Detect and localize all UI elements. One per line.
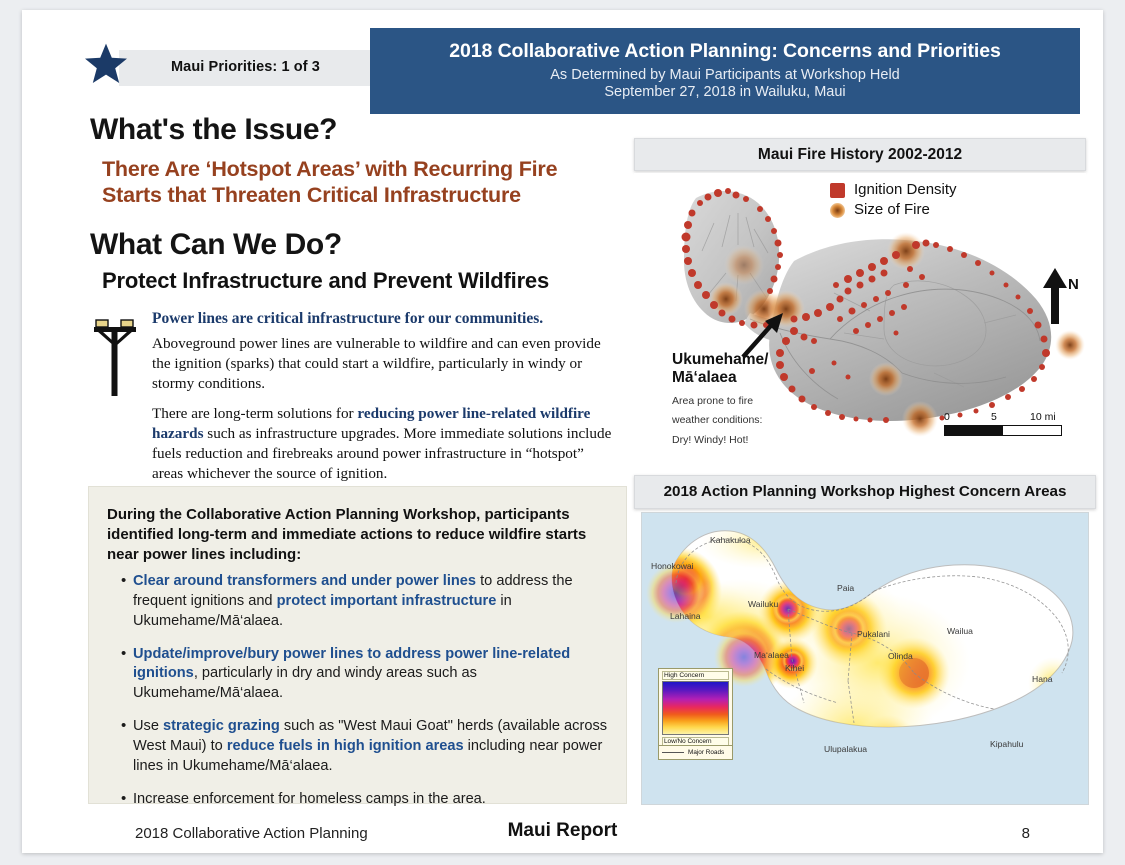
star-icon [82,40,130,88]
north-arrow: N [1042,268,1086,330]
map-place-label: Ulupalakua [824,744,867,754]
concern-legend: High Concern Low/No Concern [658,668,733,749]
bullet-3-text-1: Use [133,718,163,734]
banner-line-3: September 27, 2018 in Wailuku, Maui [370,84,1080,100]
callout-name-line-1: Ukumehame/ [672,351,802,369]
issue-heading: What's the Issue? [90,113,337,147]
footer-title: Maui Report [22,820,1103,842]
ignition-density-swatch [830,183,845,198]
priority-tag-label: Maui Priorities: 1 of 3 [171,59,320,75]
ukumehame-callout: Ukumehame/ Mā‘alaea Area prone to fire w… [672,351,802,447]
legend-label: Size of Fire [854,201,930,220]
size-of-fire-swatch [830,203,845,218]
utility-pole-icon [90,310,142,398]
highest-concern-areas-map: KahakuloaHonokowaiLahainaWailukuPaiaMaʻa… [641,512,1089,805]
callout-name-line-2: Mā‘alaea [672,369,802,387]
map-place-label: Kihei [785,663,804,673]
map-place-label: Paia [837,583,854,593]
scale-tick: 0 [944,411,950,423]
list-item: Clear around transformers and under powe… [121,572,621,632]
callout-sub-line-2: weather conditions: [672,414,802,427]
scale-tick: 5 [991,411,997,423]
maui-fire-history-map: Ignition Density Size of Fire Ukumehame/… [634,173,1086,456]
actions-intro: During the Collaborative Action Planning… [107,505,587,565]
report-page: Maui Priorities: 1 of 3 2018 Collaborati… [22,10,1103,853]
map-place-label: Kipahulu [990,739,1023,749]
scale-tick: 10 mi [1030,411,1056,423]
map-place-label: Kahakuloa [710,535,751,545]
list-item: Increase enforcement for homeless camps … [121,790,621,810]
map-place-label: Pukalani [857,629,890,639]
map1-legend: Ignition Density Size of Fire [830,181,957,221]
power-lines-text-block: Power lines are critical infrastructure … [152,310,612,494]
map-place-label: Honokowai [651,561,694,571]
roads-legend: Major Roads [658,745,733,760]
legend-row: Size of Fire [830,201,957,220]
page-number: 8 [1022,825,1030,842]
callout-sub-line-3: Dry! Windy! Hot! [672,434,802,447]
power-lines-paragraph-2: There are long-term solutions for reduci… [152,404,612,485]
map1-title: Maui Fire History 2002-2012 [634,138,1086,171]
p2-post: such as infrastructure upgrades. More im… [152,425,611,482]
map-place-label: Hana [1032,674,1053,684]
map-place-label: Maʻalaea [754,650,789,660]
map-place-label: Lahaina [670,611,701,621]
map-place-label: Wailua [947,626,973,636]
banner-line-2: As Determined by Maui Participants at Wo… [370,67,1080,83]
do-subheading: Protect Infrastructure and Prevent Wildf… [102,268,632,294]
power-lines-lead: Power lines are critical infrastructure … [152,310,612,328]
issue-subheading: There Are ‘Hotspot Areas’ with Recurring… [102,156,622,208]
list-item: Update/improve/bury power lines to addre… [121,645,621,705]
map-place-label: Wailuku [748,599,778,609]
power-lines-paragraph-1: Aboveground power lines are vulnerable t… [152,334,612,395]
bullet-4-text: Increase enforcement for homeless camps … [133,791,486,807]
title-banner: 2018 Collaborative Action Planning: Conc… [370,28,1080,114]
do-heading: What Can We Do? [90,228,342,262]
north-arrow-icon [1042,268,1068,326]
actions-list: Clear around transformers and under powe… [105,572,621,822]
p2-pre: There are long-term solutions for [152,405,357,422]
roads-legend-label: Major Roads [688,749,724,756]
scale-labels: 0 5 10 mi [944,411,1062,425]
scale-bar-graphic [944,425,1062,436]
banner-line-1: 2018 Collaborative Action Planning: Conc… [370,40,1080,63]
callout-sub-line-1: Area prone to fire [672,395,802,408]
road-line-swatch [662,752,684,753]
map2-title: 2018 Action Planning Workshop Highest Co… [634,475,1096,509]
concern-heatmap-graphic [642,513,1088,804]
legend-row: Ignition Density [830,181,957,200]
bullet-1-bold-1: Clear around transformers and under powe… [133,573,476,589]
actions-box: During the Collaborative Action Planning… [88,486,627,804]
bullet-1-bold-2: protect important infrastructure [277,593,497,609]
legend-high-label: High Concern [662,671,729,680]
north-label: N [1068,276,1079,293]
concern-color-ramp [662,681,729,735]
bullet-3-bold-2: reduce fuels in high ignition areas [227,738,464,754]
legend-label: Ignition Density [854,181,957,200]
list-item: Use strategic grazing such as "West Maui… [121,717,621,777]
map-place-label: Olinda [888,651,913,661]
page-footer: 2018 Collaborative Action Planning Maui … [22,815,1103,853]
map1-scale-bar: 0 5 10 mi [944,411,1062,436]
bullet-3-bold-1: strategic grazing [163,718,280,734]
